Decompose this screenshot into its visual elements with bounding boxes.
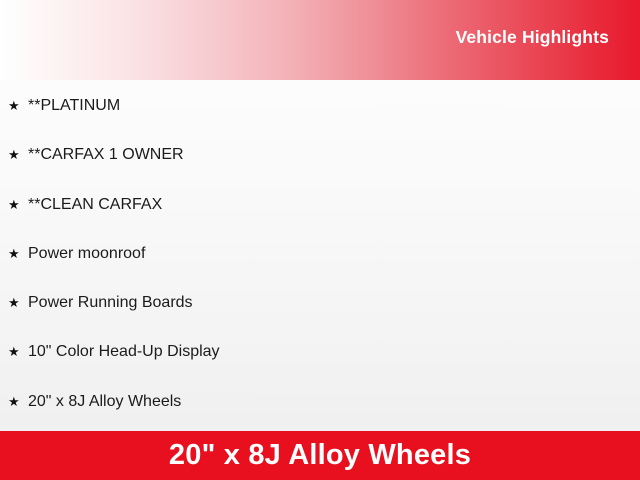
star-icon: ★: [8, 296, 28, 309]
star-icon: ★: [8, 99, 28, 112]
list-item: ★ **PLATINUM: [0, 98, 640, 147]
highlights-list: ★ **PLATINUM ★ **CARFAX 1 OWNER ★ **CLEA…: [0, 98, 640, 431]
star-icon: ★: [8, 198, 28, 211]
highlights-panel: ★ **PLATINUM ★ **CARFAX 1 OWNER ★ **CLEA…: [0, 80, 640, 431]
list-item: ★ **CARFAX 1 OWNER: [0, 147, 640, 196]
highlight-label: **CARFAX 1 OWNER: [28, 147, 184, 163]
highlight-label: Power moonroof: [28, 246, 145, 262]
caption-text: 20" x 8J Alloy Wheels: [169, 441, 471, 470]
star-icon: ★: [8, 148, 28, 161]
list-item: ★ 10" Color Head-Up Display: [0, 344, 640, 393]
highlight-label: Power Running Boards: [28, 295, 193, 311]
highlight-label: 10" Color Head-Up Display: [28, 344, 220, 360]
header-banner: Vehicle Highlights: [0, 0, 640, 80]
vehicle-highlights-slide: Vehicle Highlights ★ **PLATINUM ★ **CARF…: [0, 0, 640, 480]
page-title: Vehicle Highlights: [456, 29, 609, 47]
list-item: ★ 20" x 8J Alloy Wheels: [0, 394, 640, 431]
list-item: ★ Power Running Boards: [0, 295, 640, 344]
list-item: ★ Power moonroof: [0, 246, 640, 295]
highlight-label: **PLATINUM: [28, 98, 120, 114]
star-icon: ★: [8, 247, 28, 260]
star-icon: ★: [8, 395, 28, 408]
caption-bar: 20" x 8J Alloy Wheels: [0, 431, 640, 480]
list-item: ★ **CLEAN CARFAX: [0, 197, 640, 246]
highlight-label: 20" x 8J Alloy Wheels: [28, 394, 181, 410]
star-icon: ★: [8, 345, 28, 358]
highlight-label: **CLEAN CARFAX: [28, 197, 162, 213]
